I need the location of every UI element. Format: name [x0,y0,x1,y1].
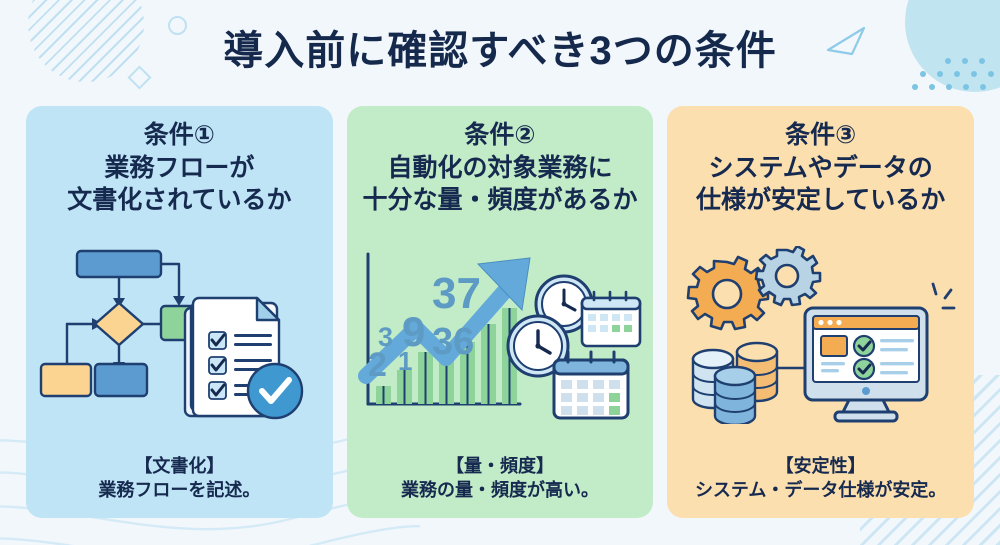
card-2-illustration: 3 2 1 9 37 36 [347,216,654,454]
chart-number-2: 2 [368,346,387,384]
card-2-number: 条件② [464,120,535,151]
condition-card-list: 条件① 業務フローが 文書化されているか [26,106,974,518]
chart-number-9: 9 [402,308,425,355]
sparkle-icon [933,284,954,308]
growth-chart-graphic: 3 2 1 9 37 36 [354,246,646,424]
card-3-number: 条件③ [785,120,856,151]
condition-card-3[interactable]: 条件③ システムやデータの 仕様が安定しているか [667,106,974,518]
calendar-icon-large [554,352,628,418]
infographic-canvas: 導入前に確認すべき3つの条件 条件① 業務フローが 文書化されているか [0,0,1000,545]
gears-database-monitor-graphic [675,246,967,424]
card-2-headline: 自動化の対象業務に 十分な量・頻度があるか [363,152,638,216]
page-title: 導入前に確認すべき3つの条件 [0,18,1000,76]
card-1-caption: 【文書化】 業務フローを記述。 [98,454,260,518]
card-3-caption: 【安定性】 システム・データ仕様が安定。 [695,454,946,518]
checkmark-badge-icon [248,364,302,418]
flowchart-document-graphic [33,246,325,424]
card-3-illustration [667,216,974,454]
card-1-number: 条件① [144,120,215,151]
card-3-headline: システムやデータの 仕様が安定しているか [696,152,945,216]
gear-icon-orange [688,257,768,329]
flow-diamond-orange [95,303,143,345]
card-1-headline: 業務フローが 文書化されているか [67,152,291,216]
chart-number-37: 37 [432,269,481,318]
condition-card-1[interactable]: 条件① 業務フローが 文書化されているか [26,106,333,518]
card-2-caption: 【量・頻度】 業務の量・頻度が高い。 [401,454,599,518]
monitor-screen [805,308,927,421]
chart-number-36: 36 [432,321,474,363]
database-cylinder [693,343,777,424]
flow-box-blue-2 [95,364,147,396]
flow-box-orange [41,364,91,396]
condition-card-2[interactable]: 条件② 自動化の対象業務に 十分な量・頻度があるか [347,106,654,518]
flow-box-blue [77,251,161,277]
card-1-illustration [26,216,333,454]
calendar-icon [582,292,640,346]
